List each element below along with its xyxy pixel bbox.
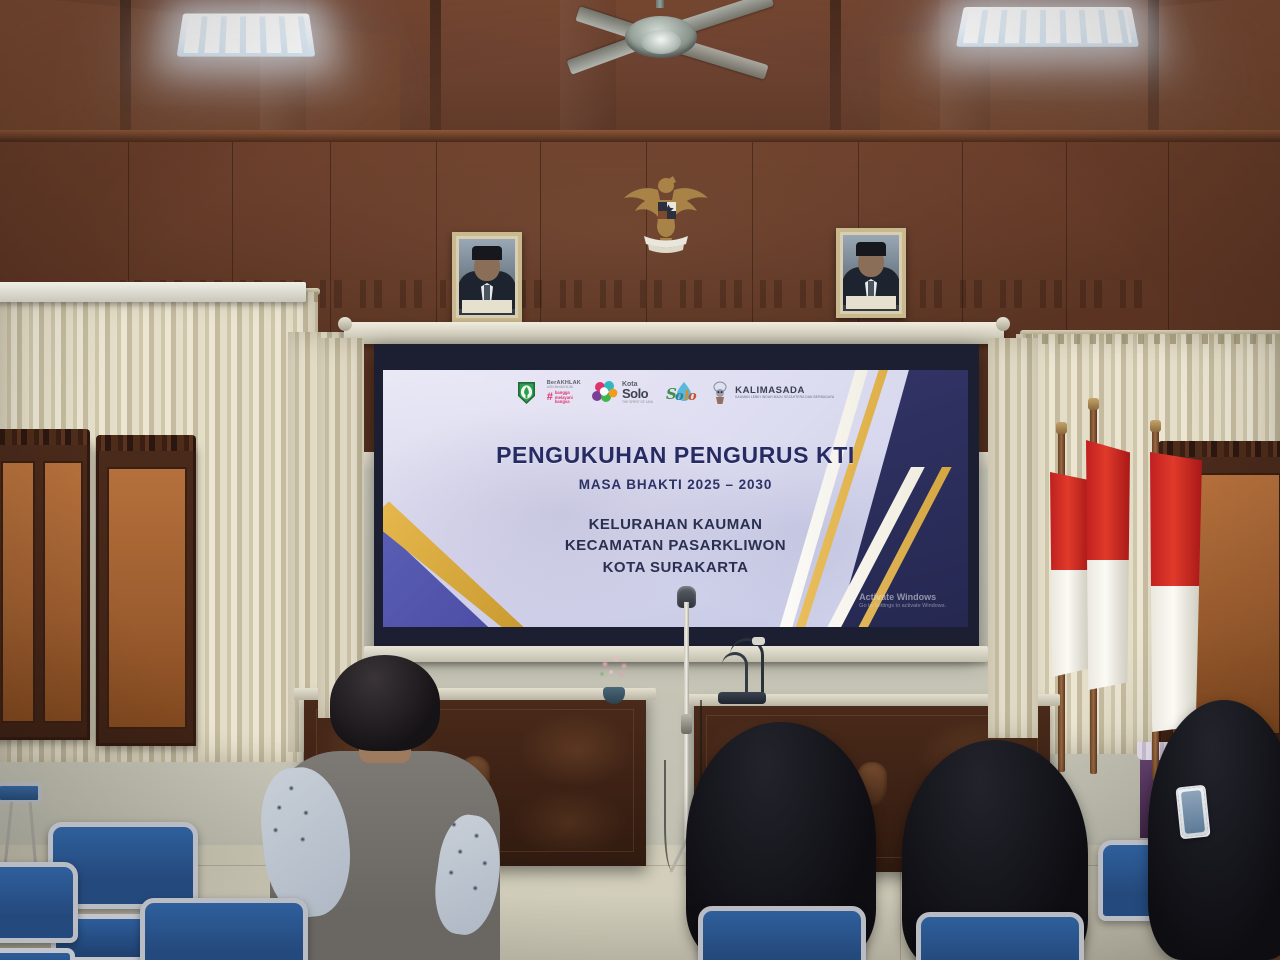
vase-bowl [603,687,625,704]
slide-text-block: PENGUKUHAN PENGURUS KTI MASA BHAKTI 2025… [383,442,968,578]
bangga-melayani-bangsa-group: # bangga melayani bangsa [547,391,581,404]
logo-solo-script: S o l o [664,381,698,405]
wall-upper-trim [0,130,1280,142]
chair-far-left-seat[interactable] [0,782,42,804]
solo-tagline: THE SPIRIT OF JAVA [622,401,653,404]
curtain-screen-right-edge [988,338,1038,738]
chair-3[interactable] [140,898,308,960]
portrait-president [452,232,522,322]
head-hair [330,655,440,751]
portrait-vice-president [836,228,906,318]
slide-subtitle: MASA BHAKTI 2025 – 2030 [383,477,968,492]
kalimasada-mascot-icon [709,381,731,405]
indonesian-flag-right [1150,452,1202,732]
slide-location-line: KECAMATAN PASARKLIWON [383,535,968,556]
chair-backrest [0,862,78,943]
partition-carved-crown [96,435,196,451]
cable [664,760,684,870]
partition-panel [1,461,35,723]
chair-backrest [140,898,308,960]
meeting-room-photo: BerAKHLAK ASN BerAKHLAK # bangga melayan… [0,0,1280,960]
hijab [1148,700,1280,960]
windows-activation-watermark: Activate Windows Go to Settings to activ… [859,592,946,609]
indonesian-flag-left [1050,472,1090,677]
fan-motor-housing [625,16,697,58]
chair-2[interactable] [0,862,78,960]
kalimasada-tagline: KAUMAN LEBIH INDAH MAJU SEJAHTERA DAN BE… [735,396,834,399]
garuda-pancasila-emblem [620,168,712,264]
hash-icon: # [547,392,553,403]
slide-location-line: KELURAHAN KAUMAN [383,514,968,535]
ceiling-light-left [177,13,316,56]
ceiling-light-right [956,7,1139,47]
microphone-capsule [752,637,765,645]
slide-location-block: KELURAHAN KAUMAN KECAMATAN PASARKLIWON K… [383,514,968,578]
logo-berakhlak: BerAKHLAK ASN BerAKHLAK # bangga melayan… [547,381,581,405]
bangga-line: bangsa [555,400,573,404]
portrait-image [459,239,515,315]
partition-carved-crown [0,429,90,445]
slide-title: PENGUKUHAN PENGURUS KTI [383,442,968,469]
portrait-image [843,235,899,311]
chair-seat [0,948,75,960]
chair-backrest [698,906,866,960]
chair-4[interactable] [698,906,866,960]
solo-droplet-icon: S o l o [664,381,698,405]
smartphone[interactable] [1175,785,1210,840]
gooseneck-table-microphone [714,630,772,704]
microphone-gooseneck [722,652,748,694]
chair-6[interactable] [916,912,1084,960]
flower-vase [596,652,632,704]
svg-text:o: o [688,389,697,404]
berakhlak-text-group: BerAKHLAK ASN BerAKHLAK # bangga melayan… [547,381,581,405]
retractable-screen-housing-left [0,282,306,302]
kalimasada-text: KALIMASADA KAUMAN LEBIH INDAH MAJU SEJAH… [735,386,834,399]
portrait-caption [846,296,896,309]
watermark-subtitle: Go to Settings to activate Windows. [859,603,946,609]
solo-label: Solo [622,387,653,400]
ceiling-beam [1148,0,1159,150]
wooden-partition-screen-left-2 [96,446,196,746]
chair-backrest [916,912,1084,960]
logo-kalimasada: KALIMASADA KAUMAN LEBIH INDAH MAJU SEJAH… [709,381,834,405]
attendee-woman-hijab-3 [1148,700,1280,960]
slide-location-line: KOTA SURAKARTA [383,557,968,578]
watermark-title: Activate Windows [859,592,946,602]
ceiling-beam [430,0,441,150]
slide-logo-bar: BerAKHLAK ASN BerAKHLAK # bangga melayan… [383,380,968,405]
microphone-base [718,692,766,704]
partition-carved-crown [1158,441,1280,457]
bangga-lines: bangga melayani bangsa [555,391,573,404]
logo-lambang-kota-surakarta [517,381,536,405]
partition-panel [43,461,83,723]
pink-flowers [596,652,632,688]
svg-text:o: o [675,389,684,404]
portrait-caption [462,300,512,313]
partition-panel [107,467,187,729]
kota-solo-text: Kota Solo THE SPIRIT OF JAVA [622,381,653,404]
ceiling-fan [548,0,778,84]
projector-screen-housing [344,322,1004,344]
solo-flower-icon [592,380,618,405]
curtain-grommets [1016,334,1280,344]
berakhlak-sublabel: ASN BerAKHLAK [547,386,581,389]
wooden-partition-screen-left [0,440,90,740]
ceiling-beam [120,0,131,150]
ceiling-beam [830,0,841,150]
indonesian-flag-center [1086,440,1130,690]
fan-downrod [656,0,664,8]
logo-kota-solo: Kota Solo THE SPIRIT OF JAVA [592,380,653,405]
